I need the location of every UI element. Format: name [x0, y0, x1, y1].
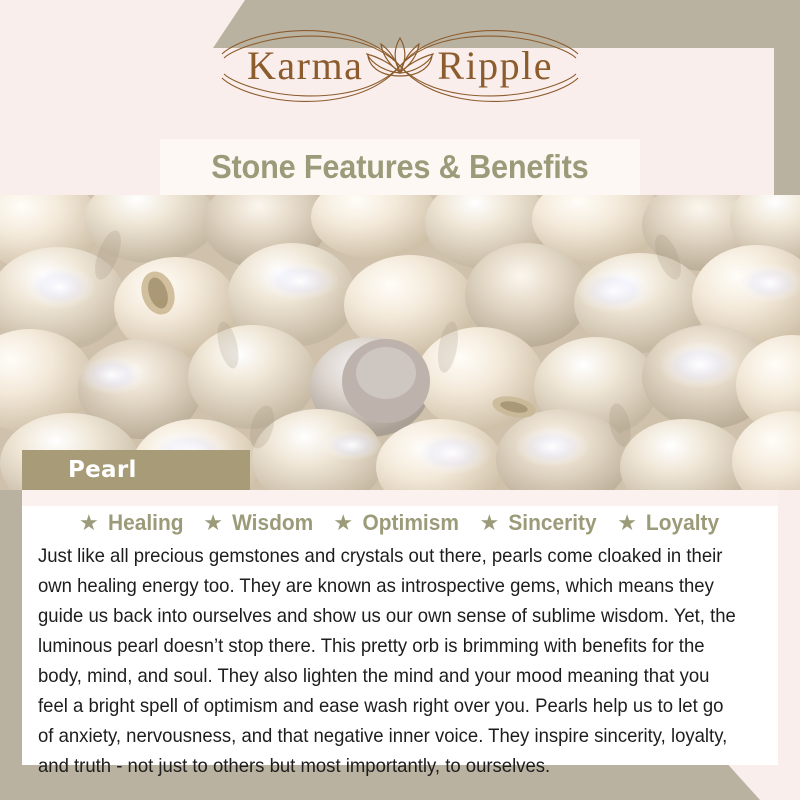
brand-word-left: Karma	[213, 46, 397, 86]
keyword-label: Wisdom	[232, 510, 313, 536]
panel-top-strip	[22, 490, 778, 506]
stone-description: Just like all precious gemstones and cry…	[38, 542, 737, 782]
hero-photo	[0, 195, 800, 490]
keyword-item: ★ Sincerity	[480, 510, 600, 536]
keyword-label: Sincerity	[509, 510, 597, 536]
benefit-keywords: ★ Healing ★ Wisdom ★ Optimism ★ Sincerit…	[22, 510, 778, 536]
pearls-illustration	[0, 195, 800, 490]
page-title: Stone Features & Benefits	[211, 148, 588, 186]
star-icon: ★	[333, 512, 353, 534]
keyword-item: ★ Healing	[79, 510, 185, 536]
infographic-page: Karma Ripple Stone Features & Benefits	[0, 0, 800, 800]
star-icon: ★	[79, 512, 99, 534]
star-icon: ★	[480, 512, 500, 534]
star-icon: ★	[617, 512, 637, 534]
keyword-label: Optimism	[363, 510, 459, 536]
title-band: Stone Features & Benefits	[160, 139, 640, 195]
keyword-label: Loyalty	[646, 510, 719, 536]
keyword-item: ★ Wisdom	[203, 510, 315, 536]
brand-word-right: Ripple	[403, 46, 587, 86]
keyword-item: ★ Loyalty	[617, 510, 721, 536]
star-icon: ★	[203, 512, 223, 534]
frame-left-bar	[0, 490, 22, 800]
brand-logo: Karma Ripple	[0, 0, 800, 132]
content-panel: ★ Healing ★ Wisdom ★ Optimism ★ Sincerit…	[22, 490, 778, 765]
stone-name: Pearl	[68, 457, 137, 483]
keyword-label: Healing	[108, 510, 183, 536]
keyword-item: ★ Optimism	[333, 510, 461, 536]
stone-name-band: Pearl	[22, 450, 250, 490]
